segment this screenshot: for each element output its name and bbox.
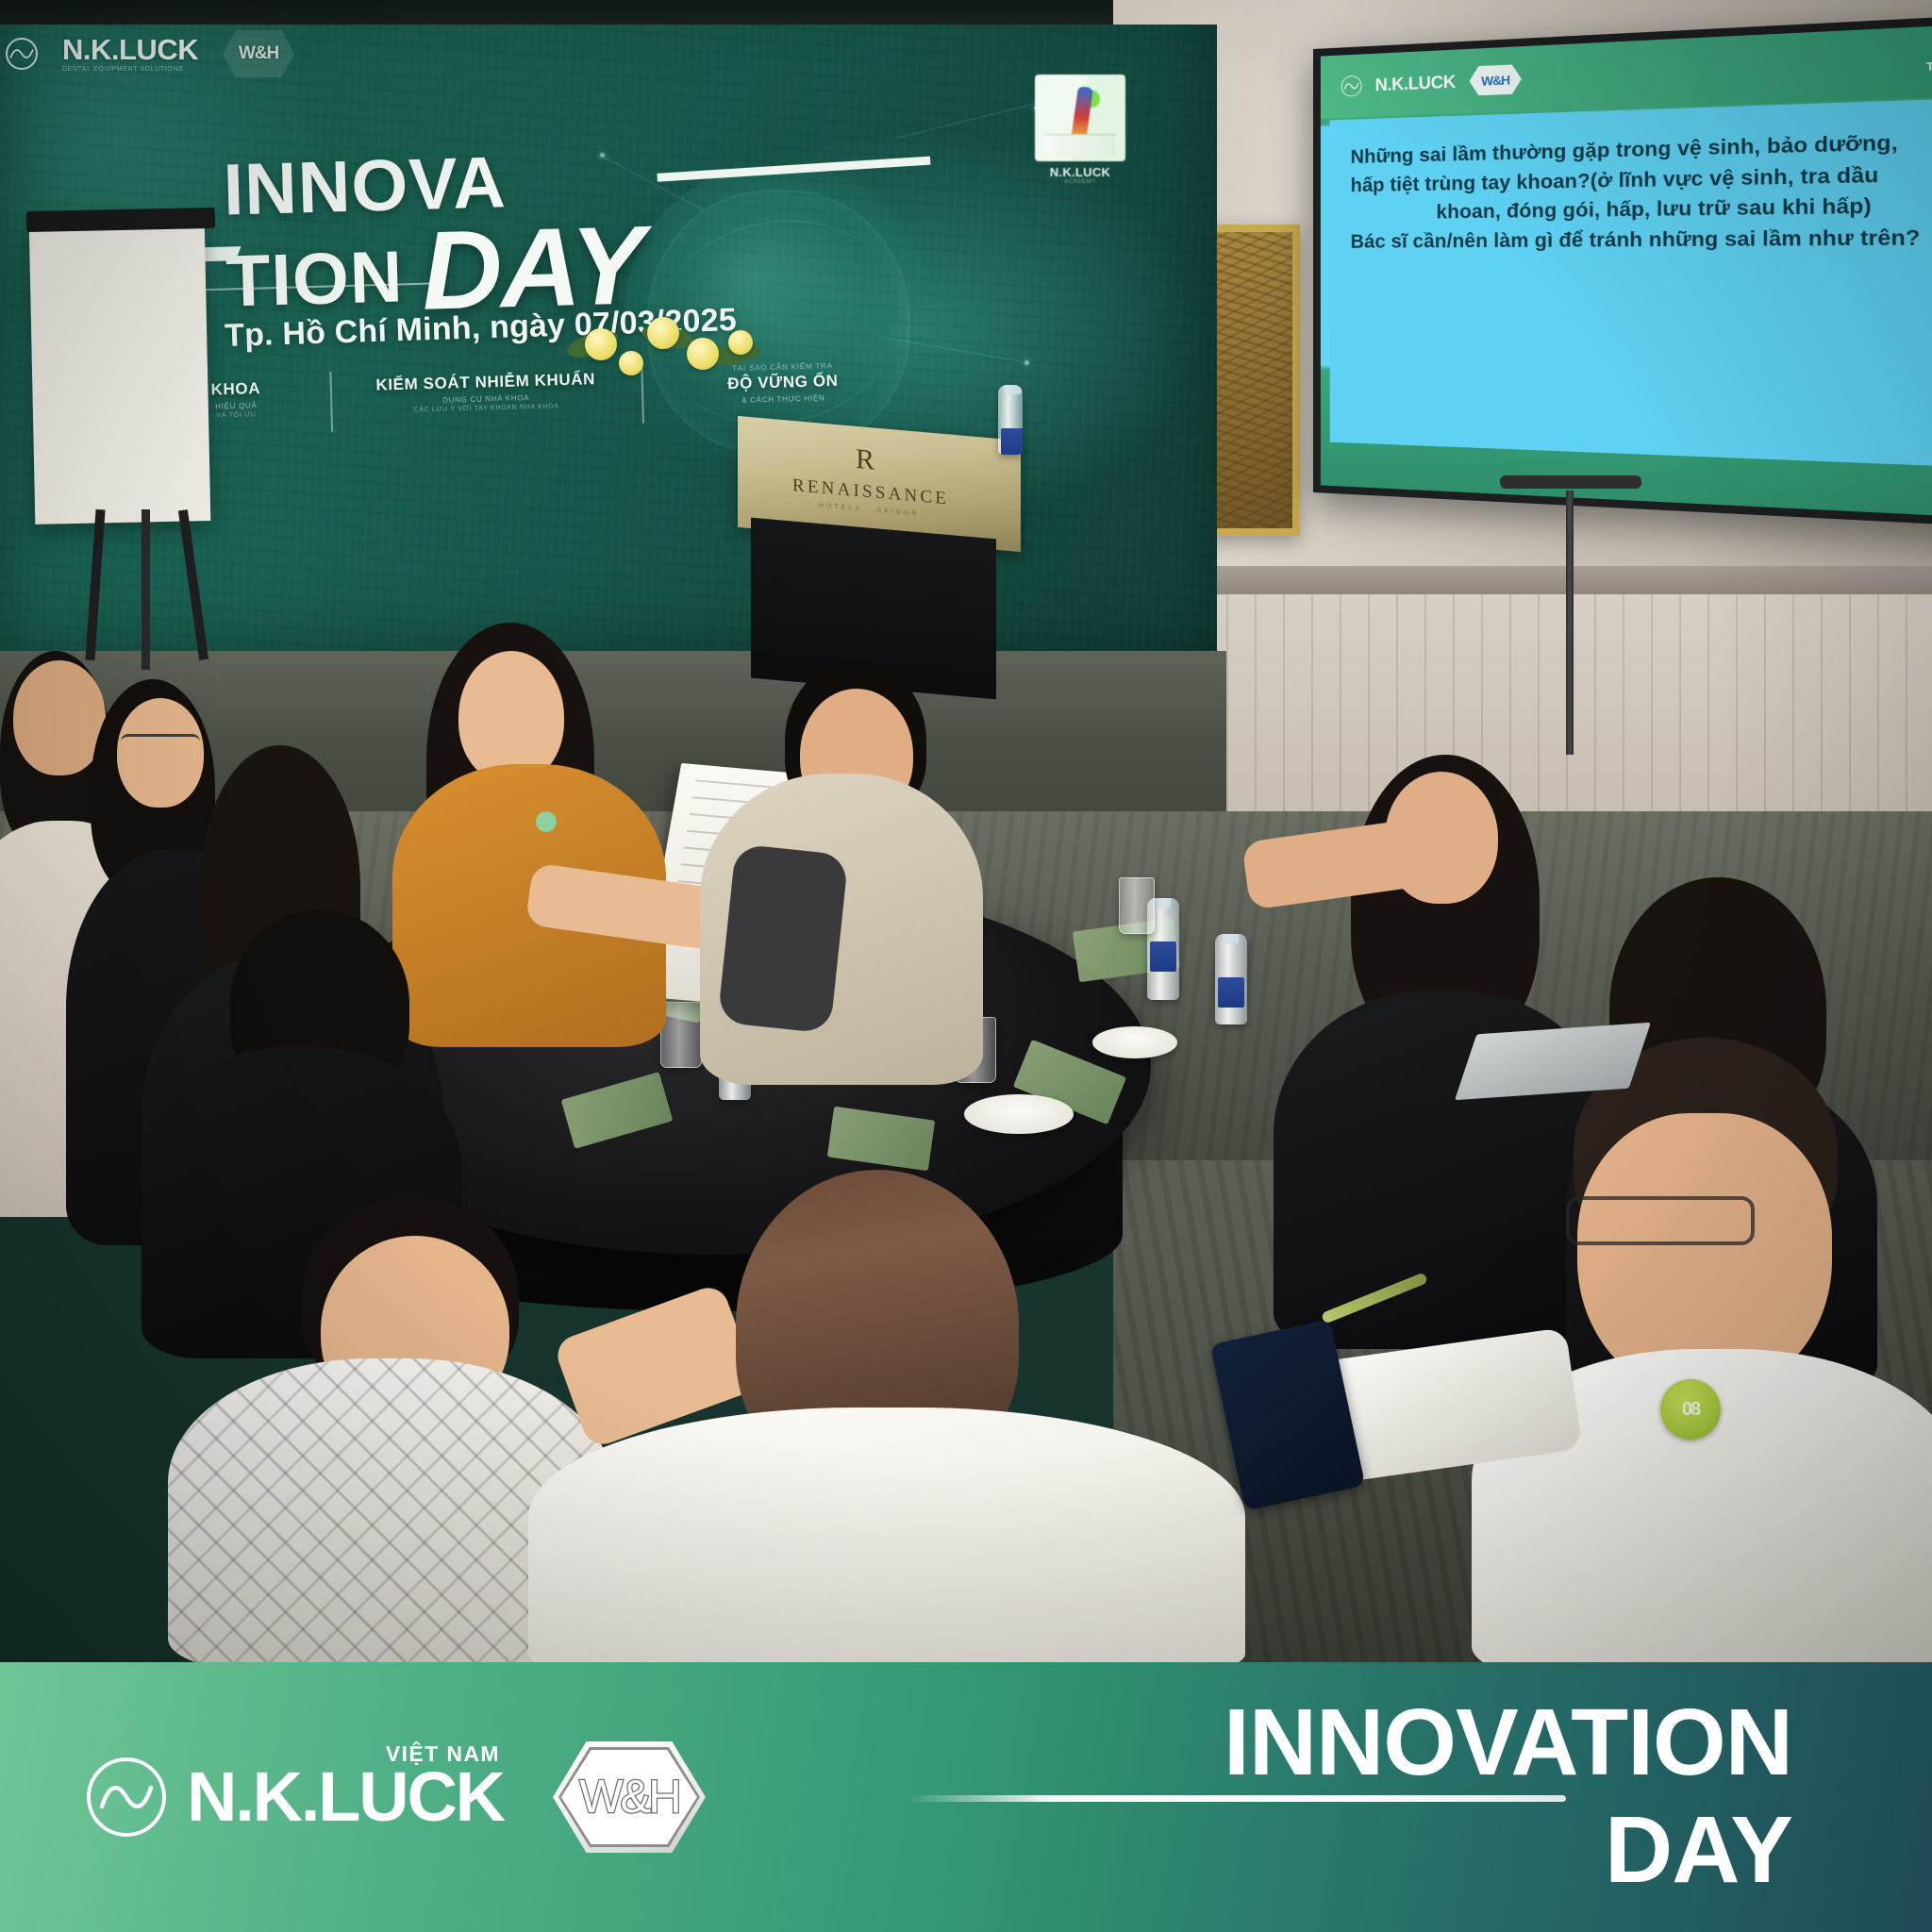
nk-luck-text-block: VIỆT NAM N.K.LUCK: [187, 1764, 504, 1830]
footer-day-text: DAY: [1224, 1805, 1792, 1895]
backdrop-logo-row: N.K.LUCK DENTAL EQUIPMENT SOLUTIONS W&H: [6, 30, 294, 77]
water-bottle: [998, 385, 1023, 455]
eyeglasses-icon: [121, 734, 200, 755]
slide-body: Những sai lầm thường gặp trong vệ sinh, …: [1330, 97, 1932, 469]
flower-rose: [687, 338, 719, 370]
slide-nk-luck-circle-icon: [1341, 75, 1362, 97]
nk-luck-tagline: DENTAL EQUIPMENT SOLUTIONS: [62, 66, 198, 73]
plate: [1092, 1026, 1177, 1058]
renaissance-wordmark: RENAISSANCE: [792, 475, 949, 510]
flipchart-paper: [29, 217, 211, 525]
flower-rose: [619, 351, 643, 375]
laptop: [1455, 1023, 1651, 1100]
wh-hex-logo: W&H: [223, 30, 294, 77]
footer-branding-banner: VIỆT NAM N.K.LUCK W&H INNOVATION DAY: [0, 1662, 1932, 1932]
footer-event-title: INNOVATION DAY: [1224, 1699, 1792, 1895]
microphone-stand: [1566, 491, 1574, 755]
academy-emblem-icon: [1035, 75, 1125, 161]
nk-luck-logo: VIỆT NAM N.K.LUCK: [87, 1757, 504, 1837]
person-torso: [528, 1407, 1245, 1662]
shirt-badge: 08: [1660, 1379, 1721, 1440]
plate: [964, 1094, 1074, 1134]
projected-slide: N.K.LUCK W&H INNOVA TION DAY Những sai l…: [1321, 23, 1932, 519]
headline-tion: TION: [225, 245, 405, 316]
flipchart-leg: [142, 509, 150, 670]
wall-trim: [1113, 566, 1932, 594]
footer-innovation-text: INNOVATION: [1224, 1699, 1792, 1786]
lectern: R RENAISSANCE HOTELS · SAIGON: [738, 406, 1021, 689]
slide-event-line1: INNOVA: [1926, 47, 1932, 62]
nk-luck-country: VIỆT NAM: [386, 1741, 500, 1767]
nk-luck-wordmark: N.K.LUCK: [187, 1764, 504, 1830]
flower-rose: [585, 328, 617, 360]
academy-subtitle: ACADEMY: [1064, 179, 1096, 185]
slide-nk-luck-wordmark: N.K.LUCK: [1375, 72, 1456, 95]
slide-event-mark: INNOVA TION DAY: [1926, 47, 1932, 75]
projection-screen: N.K.LUCK W&H INNOVA TION DAY Những sai l…: [1313, 13, 1932, 528]
event-photograph: N.K.LUCK DENTAL EQUIPMENT SOLUTIONS W&H …: [0, 0, 1932, 1662]
slide-wh-logo: W&H: [1470, 64, 1522, 96]
person-arm: [717, 843, 848, 1034]
nk-luck-circle-icon: [87, 1757, 166, 1837]
wh-wordmark: W&H: [579, 1771, 678, 1824]
nk-luck-academy-badge: N.K.LUCK ACADEMY: [1028, 60, 1132, 185]
nk-luck-circle-icon: [6, 38, 38, 70]
footer-logo-group: VIỆT NAM N.K.LUCK W&H: [0, 1741, 706, 1853]
flower-rose: [647, 317, 679, 349]
flower-arrangement: [528, 283, 792, 406]
event-photo-card: N.K.LUCK DENTAL EQUIPMENT SOLUTIONS W&H …: [0, 0, 1932, 1932]
drinking-glass: [660, 1002, 702, 1068]
drinking-glass: [1119, 877, 1155, 934]
water-bottle: [1215, 934, 1247, 1024]
nk-luck-wordmark: N.K.LUCK: [62, 35, 198, 64]
slide-text-line: Bác sĩ cần/nên làm gì để tránh những sai…: [1351, 223, 1932, 257]
name-badge-pin: [536, 811, 557, 832]
eyeglasses-icon: [1566, 1196, 1755, 1245]
person-head: [458, 651, 564, 783]
renaissance-monogram: R: [856, 443, 874, 477]
flipchart-clamp: [26, 208, 215, 232]
flower-rose: [728, 330, 753, 355]
person-head: [13, 660, 106, 775]
academy-wordmark: N.K.LUCK: [1050, 165, 1111, 179]
network-dot: [1024, 360, 1029, 365]
wh-logo: W&H: [553, 1741, 706, 1853]
slide-event-line2: TION DAY: [1926, 59, 1932, 75]
